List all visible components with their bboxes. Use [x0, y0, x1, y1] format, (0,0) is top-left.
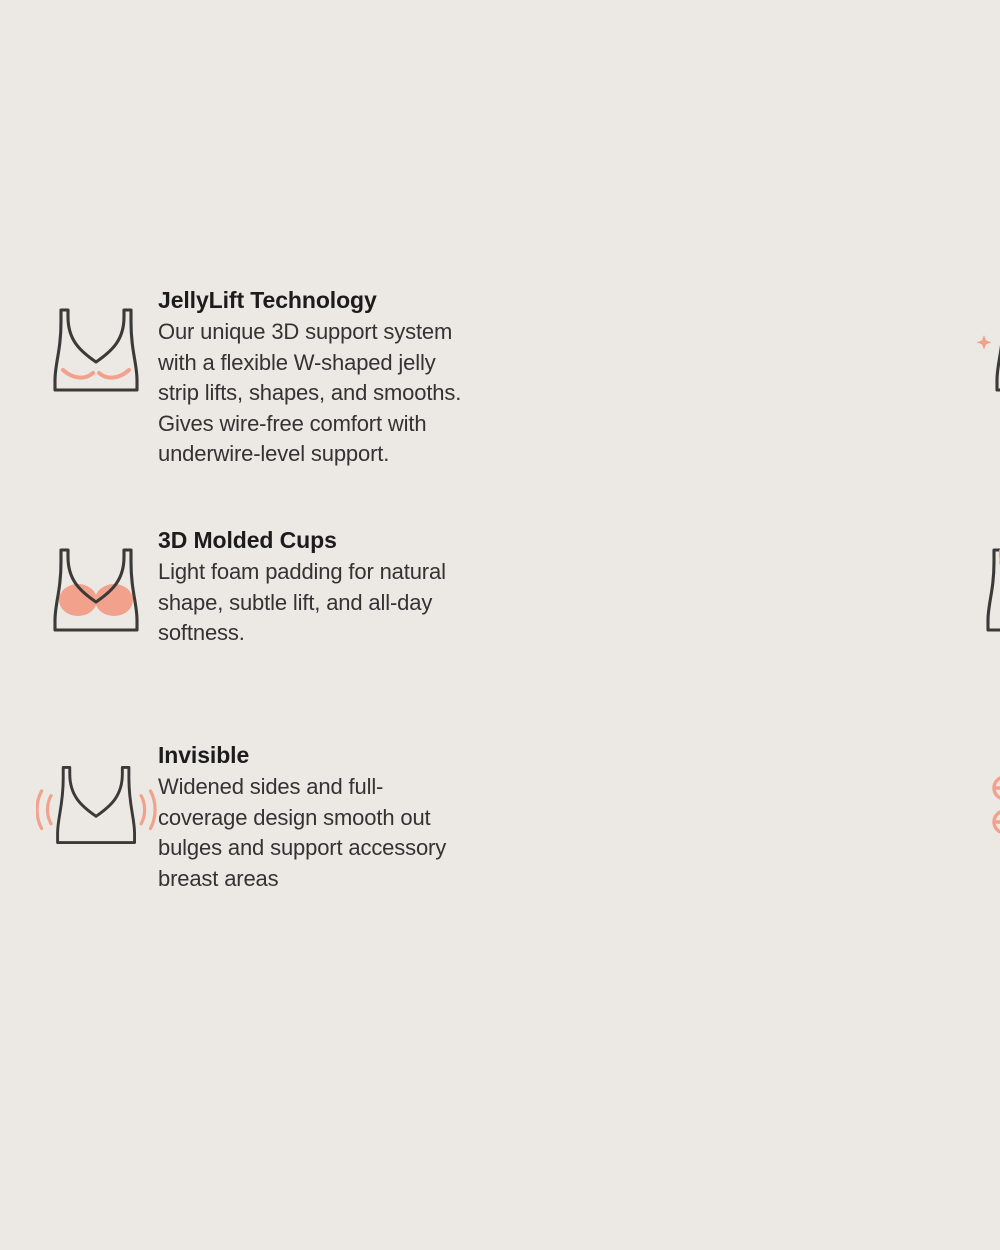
feature-text-block: Invisible Widened sides and full-coverag… [158, 725, 468, 894]
feature-card-jellylift-technology: JellyLift Technology Our unique 3D suppo… [0, 270, 500, 510]
feature-title: 3D Molded Cups [158, 526, 468, 554]
feature-description: Widened sides and full-coverage design s… [158, 772, 468, 894]
bra-jelly-strip-icon [36, 270, 158, 382]
feature-text-block: 3D Molded Cups Light foam padding for na… [158, 510, 468, 649]
bra-v-neckline-icon [968, 510, 1000, 622]
feature-card-adjustable-straps: Adjustable Straps Adjustable, non-slip s… [500, 725, 1000, 1045]
feature-grid: JellyLift Technology Our unique 3D suppo… [0, 270, 1000, 1045]
feature-card-v-neckline: V-Neckline Deep V plunge neckline enhanc… [500, 510, 1000, 725]
feature-description: Light foam padding for natural shape, su… [158, 557, 468, 649]
adjustable-straps-icon [968, 725, 1000, 837]
feature-card-seamless-breathable: Seamless & Breathable A smooth, invisibl… [500, 270, 1000, 510]
feature-highlights-page: JellyLift Technology Our unique 3D suppo… [0, 0, 1000, 1250]
feature-card-invisible: Invisible Widened sides and full-coverag… [0, 725, 500, 1045]
feature-card-3d-molded-cups: 3D Molded Cups Light foam padding for na… [0, 510, 500, 725]
feature-title: Invisible [158, 741, 468, 769]
feature-title: JellyLift Technology [158, 286, 468, 314]
feature-description: Our unique 3D support system with a flex… [158, 317, 468, 470]
bra-sparkle-seamless-icon [968, 270, 1000, 382]
bra-molded-cups-icon [36, 510, 158, 622]
bra-invisible-waves-icon [36, 725, 158, 837]
feature-text-block: JellyLift Technology Our unique 3D suppo… [158, 270, 468, 470]
